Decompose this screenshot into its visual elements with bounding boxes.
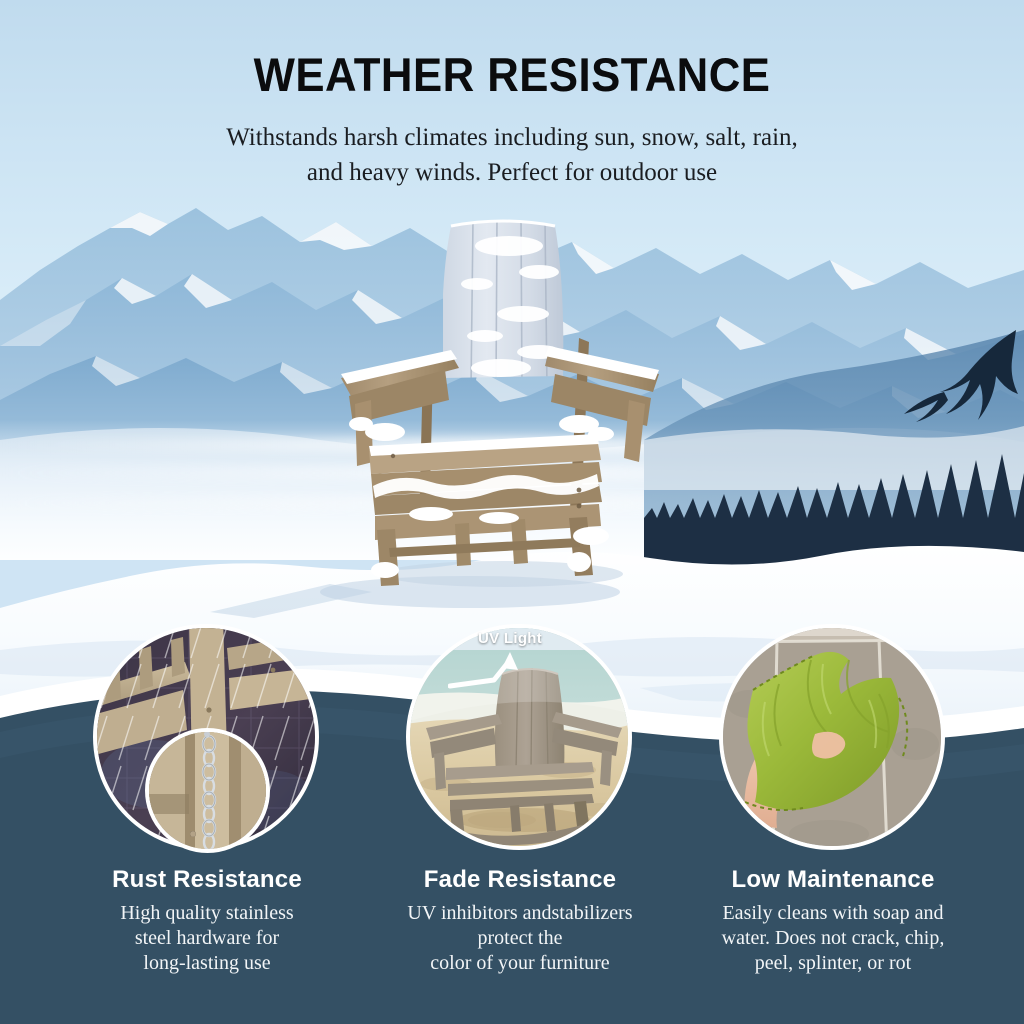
feature-body-line-2: protect the <box>360 926 680 951</box>
feature-image-low-maintenance <box>719 624 945 850</box>
feature-body-line-3: peel, splinter, or rot <box>673 951 993 976</box>
feature-body-line-1: UV inhibitors andstabilizers <box>360 901 680 926</box>
feature-caption-fade-resistance: Fade Resistance UV inhibitors andstabili… <box>360 866 680 976</box>
infographic-poster: WEATHER RESISTANCE Withstands harsh clim… <box>0 0 1024 1024</box>
feature-body-low-maintenance: Easily cleans with soap and water. Does … <box>673 901 993 976</box>
hero-product-chair <box>333 218 673 593</box>
feature-body-line-1: High quality stainless <box>47 901 367 926</box>
feature-title-rust-resistance: Rust Resistance <box>47 866 367 894</box>
page-title: WEATHER RESISTANCE <box>36 47 988 102</box>
subtitle-line-1: Withstands harsh climates including sun,… <box>226 124 798 151</box>
feature-body-line-2: water. Does not crack, chip, <box>673 926 993 951</box>
feature-body-line-3: color of your furniture <box>360 951 680 976</box>
uv-light-arrow-icon <box>448 646 558 694</box>
uv-light-label: UV Light <box>478 630 542 647</box>
feature-body-line-3: long-lasting use <box>47 951 367 976</box>
feature-title-low-maintenance: Low Maintenance <box>673 866 993 894</box>
page-subtitle: Withstands harsh climates including sun,… <box>162 120 862 190</box>
feature-body-fade-resistance: UV inhibitors andstabilizers protect the… <box>360 901 680 976</box>
feature-title-fade-resistance: Fade Resistance <box>360 866 680 894</box>
feature-caption-rust-resistance: Rust Resistance High quality stainless s… <box>47 866 367 976</box>
feature-body-rust-resistance: High quality stainless steel hardware fo… <box>47 901 367 976</box>
subtitle-line-2: and heavy winds. Perfect for outdoor use <box>162 155 862 190</box>
feature-body-line-1: Easily cleans with soap and <box>673 901 993 926</box>
feature-body-line-2: steel hardware for <box>47 926 367 951</box>
feature-inset-stainless-chain <box>145 728 270 853</box>
feature-caption-low-maintenance: Low Maintenance Easily cleans with soap … <box>673 866 993 976</box>
